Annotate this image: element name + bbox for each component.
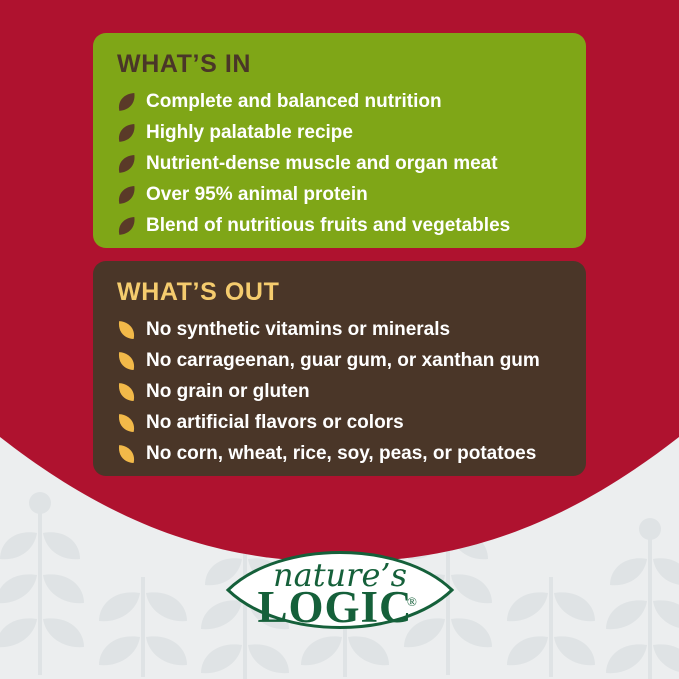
whats-out-list: No synthetic vitamins or minerals No car… <box>115 315 564 469</box>
leaf-icon <box>115 413 137 433</box>
list-item-label: Complete and balanced nutrition <box>146 92 442 113</box>
list-item: No synthetic vitamins or minerals <box>115 315 564 345</box>
leaf-icon <box>115 351 137 371</box>
list-item: No grain or gluten <box>115 377 564 407</box>
leaf-icon <box>115 382 137 402</box>
list-item: No artificial flavors or colors <box>115 408 564 438</box>
list-item: Complete and balanced nutrition <box>115 87 564 117</box>
leaf-icon <box>115 444 137 464</box>
leaf-icon <box>115 154 137 174</box>
list-item-label: Highly palatable recipe <box>146 123 353 144</box>
whats-in-list: Complete and balanced nutrition Highly p… <box>115 87 564 241</box>
list-item-label: No artificial flavors or colors <box>146 413 404 434</box>
list-item-label: Nutrient-dense muscle and organ meat <box>146 154 498 175</box>
product-infographic: WHAT’S IN Complete and balanced nutritio… <box>0 0 679 679</box>
logo-trademark: ® <box>407 594 417 609</box>
whats-out-panel: WHAT’S OUT No synthetic vitamins or mine… <box>93 261 586 476</box>
whats-out-title: WHAT’S OUT <box>117 279 564 305</box>
leaf-icon <box>115 216 137 236</box>
list-item: No corn, wheat, rice, soy, peas, or pota… <box>115 439 564 469</box>
leaf-icon <box>115 92 137 112</box>
whats-in-panel: WHAT’S IN Complete and balanced nutritio… <box>93 33 586 248</box>
leaf-icon <box>115 123 137 143</box>
list-item: No carrageenan, guar gum, or xanthan gum <box>115 346 564 376</box>
brand-logo: nature’s LOGIC ® <box>225 534 455 646</box>
list-item: Over 95% animal protein <box>115 180 564 210</box>
list-item: Blend of nutritious fruits and vegetable… <box>115 211 564 241</box>
list-item: Highly palatable recipe <box>115 118 564 148</box>
list-item-label: No corn, wheat, rice, soy, peas, or pota… <box>146 444 536 465</box>
list-item-label: Over 95% animal protein <box>146 185 368 206</box>
list-item: Nutrient-dense muscle and organ meat <box>115 149 564 179</box>
list-item-label: No synthetic vitamins or minerals <box>146 320 450 341</box>
leaf-icon <box>115 185 137 205</box>
list-item-label: Blend of nutritious fruits and vegetable… <box>146 216 510 237</box>
list-item-label: No carrageenan, guar gum, or xanthan gum <box>146 351 540 372</box>
leaf-icon <box>115 320 137 340</box>
list-item-label: No grain or gluten <box>146 382 310 403</box>
whats-in-title: WHAT’S IN <box>117 51 564 77</box>
logo-leaf-icon: nature’s LOGIC ® <box>225 534 455 646</box>
logo-main-text: LOGIC <box>257 582 412 632</box>
